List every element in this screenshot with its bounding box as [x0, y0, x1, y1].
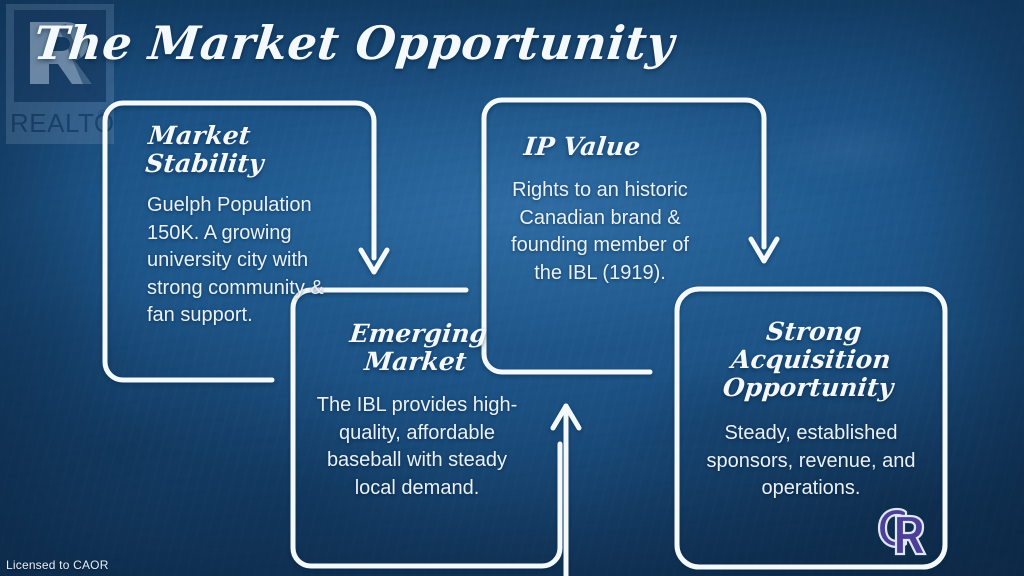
licence-text: Licensed to CAOR: [6, 558, 109, 572]
card-body-ip-value: Rights to an historic Canadian brand & f…: [506, 177, 694, 287]
cr-monogram-icon: [866, 500, 928, 560]
card-strong-acquisition[interactable]: Strong Acquisition Opportunity Steady, e…: [676, 288, 946, 568]
card-heading-market-stability: Market Stability: [144, 122, 328, 178]
card-body-strong-acquisition: Steady, established sponsors, revenue, a…: [698, 420, 924, 503]
card-heading-strong-acquisition: Strong Acquisition Opportunity: [694, 318, 929, 402]
card-body-emerging-market: The IBL provides high-quality, affordabl…: [314, 392, 520, 502]
card-heading-ip-value: IP Value: [523, 133, 696, 161]
slide-canvas: REALTOR ® The Market Opportunity: [0, 0, 1024, 576]
page-title: The Market Opportunity: [31, 16, 677, 70]
